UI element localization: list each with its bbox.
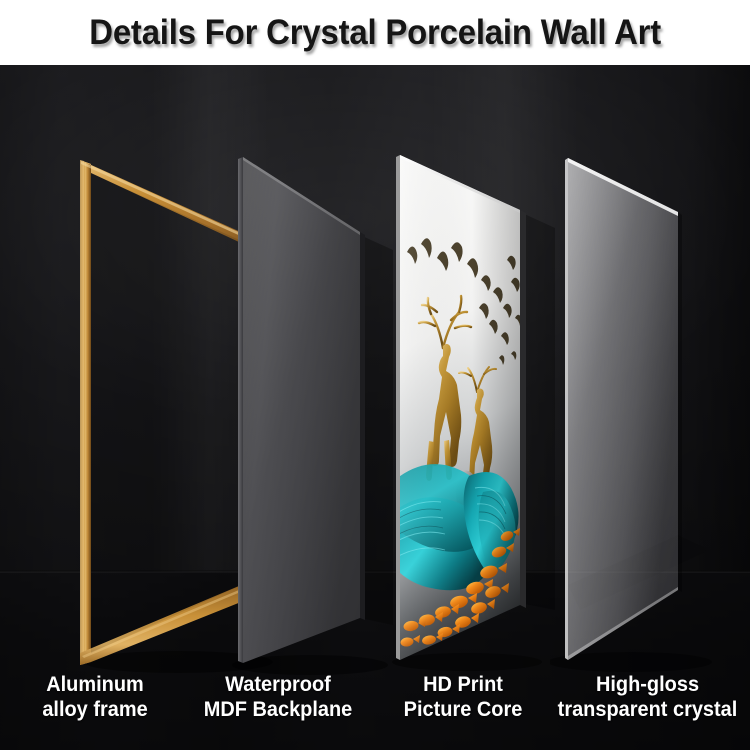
caption-line-1: High-gloss [545,672,749,697]
caption-line-2: Picture Core [382,697,544,722]
product-detail-infographic: Details For Crystal Porcelain Wall Art A… [0,0,750,750]
caption-line-1: HD Print [382,672,544,697]
art-right-thickness [520,210,526,608]
caption-hd-print-picture-core: HD Print Picture Core [382,672,544,722]
page-title: Details For Crystal Porcelain Wall Art [89,13,661,53]
caption-line-2: MDF Backplane [185,697,371,722]
caption-line-1: Aluminum [5,672,186,697]
mdf-left-thickness [238,157,243,663]
caption-line-1: Waterproof [185,672,371,697]
panel-waterproof-mdf-backplane [225,140,385,680]
caption-high-gloss-transparent-crystal: High-gloss transparent crystal [545,672,749,722]
caption-row: Aluminum alloy frame Waterproof MDF Back… [0,668,750,750]
caption-waterproof-mdf-backplane: Waterproof MDF Backplane [185,672,371,722]
panel-high-gloss-transparent-crystal [550,140,750,680]
art-left-thickness [396,155,400,660]
panel-hd-print-picture-core [385,140,545,680]
caption-line-2: transparent crystal [545,697,749,722]
title-bar: Details For Crystal Porcelain Wall Art [0,0,750,65]
caption-line-2: alloy frame [5,697,186,722]
caption-aluminum-alloy-frame: Aluminum alloy frame [5,672,186,722]
